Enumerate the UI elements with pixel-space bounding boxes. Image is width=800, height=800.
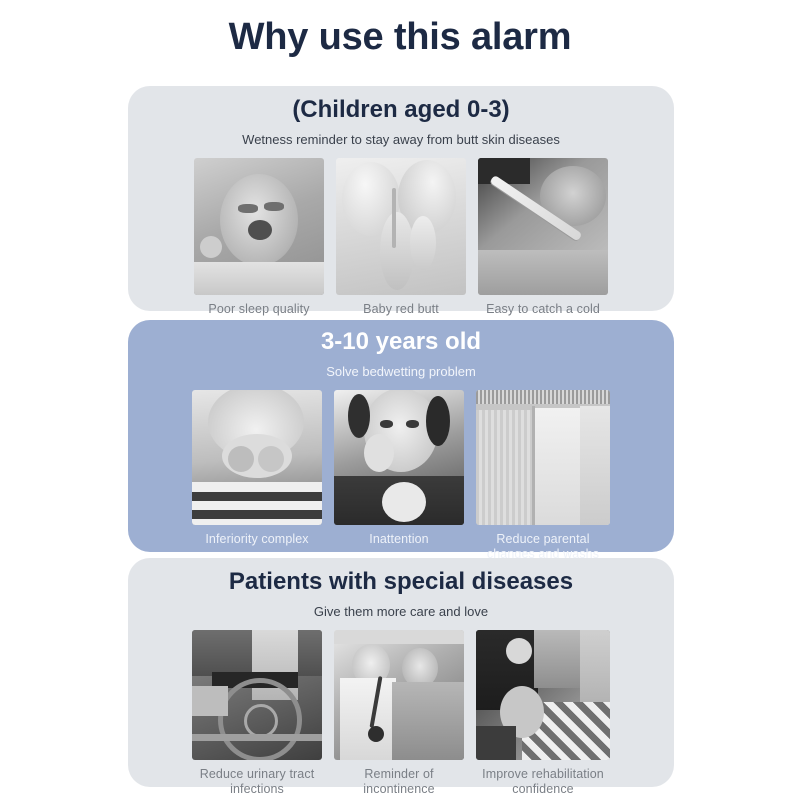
section-card-years-3-10: 3-10 years old Solve bedwetting problem [128,320,674,552]
tile-reduce-urinary-tract-infections[interactable]: Reduce urinary tract infections [192,630,322,797]
nurse-elderly-photo [334,630,464,760]
wheelchair-patient-photo [192,630,322,760]
section-title: (Children aged 0-3) [128,86,674,124]
tile-caption: Reminder of incontinence [334,767,464,797]
thermometer-baby-photo [478,158,608,295]
rehab-assist-photo [476,630,610,760]
tile-row: Poor sleep quality Baby red butt [128,158,674,317]
tile-caption: Easy to catch a cold [486,302,600,317]
crying-baby-photo [194,158,324,295]
section-card-special-diseases: Patients with special diseases Give them… [128,558,674,787]
section-card-children-0-3: (Children aged 0-3) Wetness reminder to … [128,86,674,311]
tile-caption: Poor sleep quality [208,302,309,317]
tile-baby-red-butt[interactable]: Baby red butt [336,158,466,317]
tile-row: Inferiority complex Inattention [128,390,674,562]
tile-caption: Inattention [369,532,428,547]
section-subtitle: Wetness reminder to stay away from butt … [128,132,674,148]
section-subtitle: Solve bedwetting problem [128,364,674,380]
section-title: 3-10 years old [128,320,674,356]
page-title: Why use this alarm [0,14,800,60]
tile-caption: Reduce urinary tract infections [192,767,322,797]
tile-easy-to-catch-a-cold[interactable]: Easy to catch a cold [478,158,608,317]
promo-page: Why use this alarm (Children aged 0-3) W… [0,0,800,800]
tile-improve-rehabilitation-confidence[interactable]: Improve rehabilitation confidence [476,630,610,797]
tile-inattention[interactable]: Inattention [334,390,464,562]
tile-caption: Inferiority complex [205,532,308,547]
tile-caption: Baby red butt [363,302,439,317]
girl-daydreaming-photo [334,390,464,525]
tile-inferiority-complex[interactable]: Inferiority complex [192,390,322,562]
boy-rubbing-eyes-photo [192,390,322,525]
tile-caption: Improve rehabilitation confidence [476,767,610,797]
tile-reminder-of-incontinence[interactable]: Reminder of incontinence [334,630,464,797]
tile-reduce-parental-changes[interactable]: Reduce parental changes and washs [476,390,610,562]
tile-poor-sleep-quality[interactable]: Poor sleep quality [194,158,324,317]
laundry-drying-photo [476,390,610,525]
section-subtitle: Give them more care and love [128,604,674,620]
baby-legs-photo [336,158,466,295]
tile-row: Reduce urinary tract infections Reminder… [128,630,674,797]
section-title: Patients with special diseases [128,558,674,596]
